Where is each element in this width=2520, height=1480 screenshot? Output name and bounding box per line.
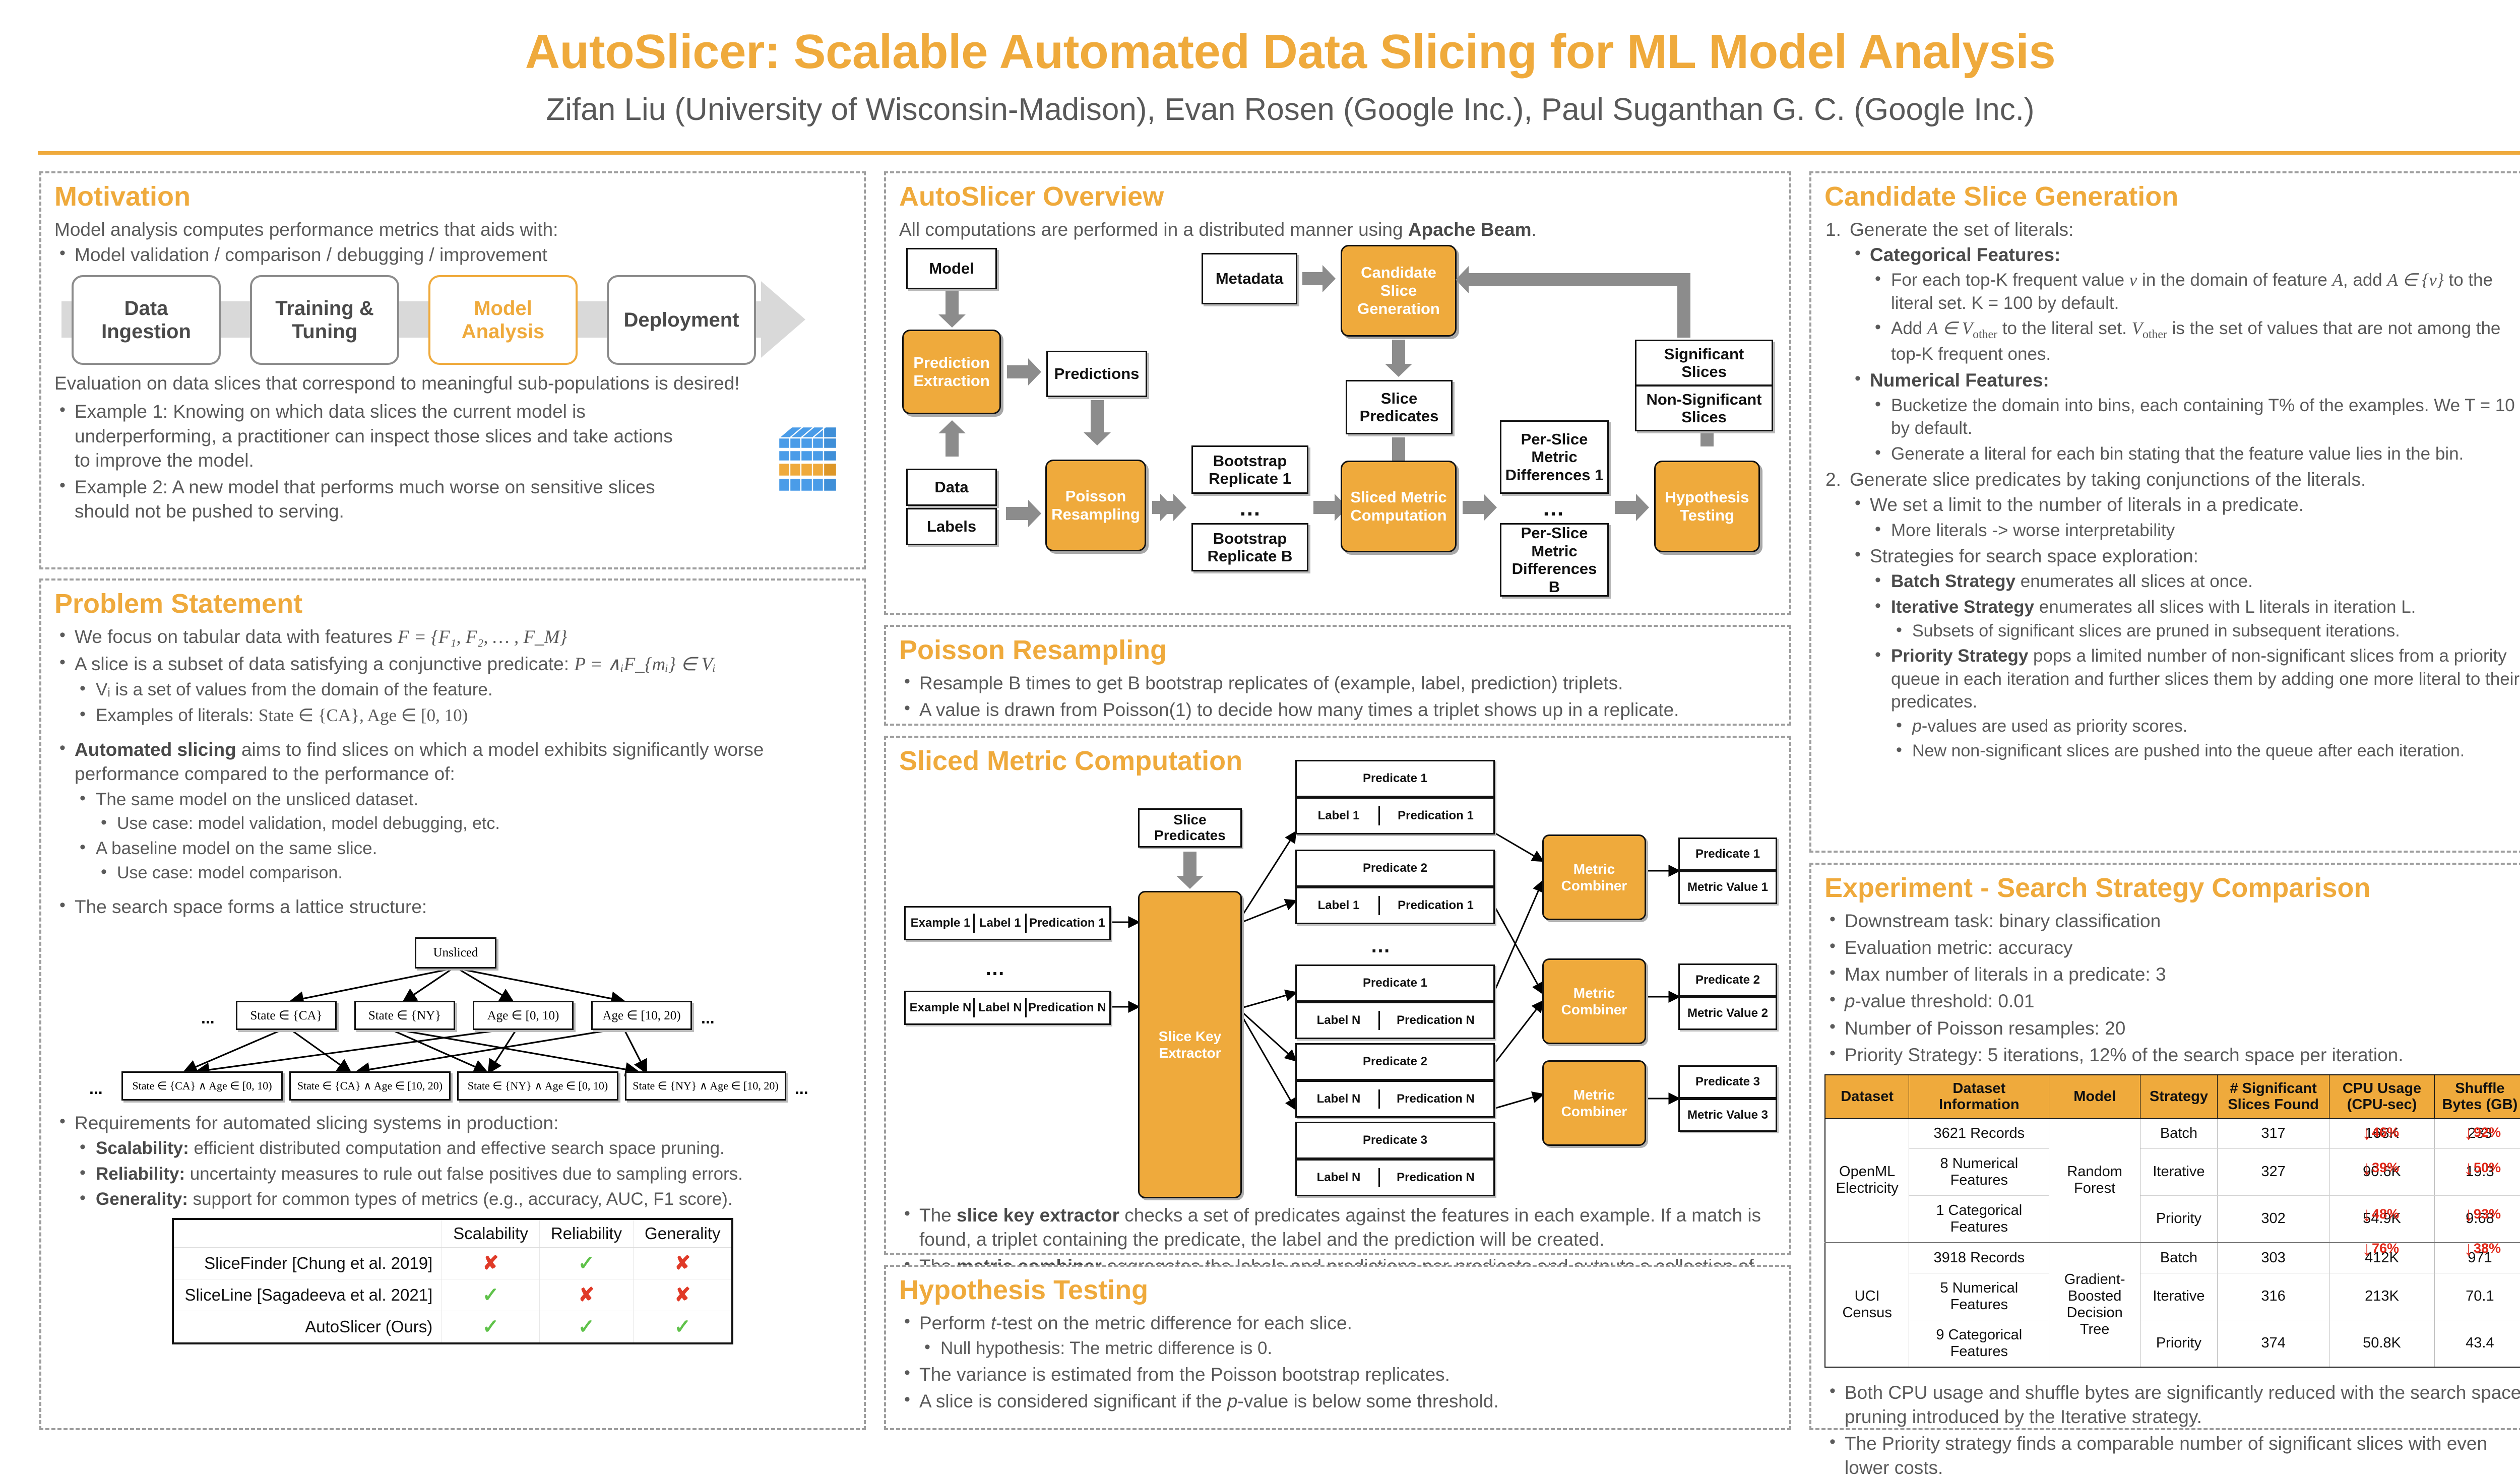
smc-output-predicate-1: Predicate 1: [1678, 838, 1777, 871]
list-item: Iterative Strategy enumerates all slices…: [1870, 596, 2520, 642]
row-label-slicefinder: SliceFinder [Chung et al. 2019]: [173, 1247, 442, 1279]
flow-node-prediction-extraction: Prediction Extraction: [902, 330, 1001, 414]
text-fragment: efficient distributed computation and ef…: [189, 1138, 725, 1158]
flow-node-sliced-metric-computation: Sliced Metric Computation: [1341, 461, 1457, 552]
list-item: A value is drawn from Poisson(1) to deci…: [899, 698, 1776, 722]
list-item: p-value threshold: 0.01: [1824, 989, 2520, 1013]
smc-predicate-header-1b: Predicate 1: [1295, 964, 1495, 1002]
arrow-metadata-to-candidate: [1302, 272, 1324, 285]
smc-cell-predication: Predication N: [1380, 1011, 1491, 1030]
smc-cell-label: Label 1: [1299, 896, 1380, 915]
requirement-list: Scalability: efficient distributed compu…: [75, 1137, 851, 1211]
check-icon: ✓: [578, 1252, 595, 1274]
cell-info-numerical-2: 5 Numerical Features: [1909, 1273, 2049, 1320]
cell-slices-iterative-2: 316: [2217, 1273, 2329, 1320]
symbol-t: t: [991, 1313, 996, 1333]
pipeline-arrowhead-icon: [761, 281, 805, 358]
down-arrow-icon: ↓: [2464, 1238, 2474, 1260]
annotation-value: 48%: [2372, 1206, 2399, 1221]
feedback-loop-horizontal: [1468, 273, 1690, 286]
list-item: A baseline model on the same slice. Use …: [75, 837, 851, 884]
flow-node-non-significant-slices: Non-Significant Slices: [1635, 385, 1773, 431]
text-fragment: -value threshold: 0.01: [1855, 991, 2035, 1011]
list-item: Generate slice predicates by taking conj…: [1824, 468, 2520, 762]
strategy-iterative-label: Iterative Strategy: [1891, 597, 2034, 617]
motivation-bullets-top: Model validation / comparison / debuggin…: [54, 243, 851, 267]
problem-requirements: Requirements for automated slicing syste…: [54, 1111, 851, 1211]
cross-icon: ✘: [483, 1253, 499, 1274]
cross-icon: ✘: [674, 1284, 690, 1306]
text-fragment: Requirements for automated slicing syste…: [75, 1113, 558, 1133]
motivation-statement: Evaluation on data slices that correspon…: [54, 371, 851, 396]
column-header-scalability: Scalability: [442, 1219, 540, 1248]
list-item: Null hypothesis: The metric difference i…: [919, 1337, 1776, 1360]
cell-slices-batch-2: 303: [2217, 1243, 2329, 1273]
cell-strategy-iterative-2: Iterative: [2140, 1273, 2217, 1320]
cross-icon: ✘: [674, 1253, 690, 1274]
list-item: Requirements for automated slicing syste…: [54, 1111, 851, 1211]
list-item: Both CPU usage and shuffle bytes are sig…: [1824, 1381, 2520, 1429]
text-fragment: The same model on the unsliced dataset.: [96, 790, 418, 809]
table-row: 5 Numerical Features Iterative 316 213K …: [1825, 1273, 2520, 1320]
list-item: Numerical Features: Bucketize the domain…: [1850, 368, 2520, 466]
math-a-in-v: A ∈ {v}: [2387, 270, 2443, 290]
smc-cell-predication: Predication 1: [1380, 806, 1491, 825]
flow-node-candidate-slice-generation: Candidate Slice Generation: [1341, 245, 1457, 337]
annotation-cpu-batch-to-iterative-g1: ↓46%: [2362, 1123, 2399, 1143]
smc-cell-example-n: Example N: [908, 998, 975, 1017]
flow-node-bootstrap-replicate-1: Bootstrap Replicate 1: [1191, 445, 1308, 494]
flow-node-significant-slices: Significant Slices: [1635, 340, 1773, 386]
arrow-predictions-to-poisson: [1091, 400, 1104, 433]
list-item: Example 1: Knowing on which data slices …: [54, 400, 679, 472]
text-fragment: -value is below some threshold.: [1237, 1391, 1498, 1411]
experiment-bullets: Downstream task: binary classification E…: [1824, 909, 2520, 1067]
arrow-model-to-prediction-extraction: [946, 291, 959, 315]
list-item: Example 2: A new model that performs muc…: [54, 475, 679, 524]
annotation-value: 38%: [2474, 1241, 2501, 1256]
cell-cpu-iterative-2: 213K: [2329, 1273, 2435, 1320]
smc-node-metric-combiner-1: Metric Combiner: [1542, 834, 1646, 920]
column-header-shuffle-bytes: Shuffle Bytes (GB): [2434, 1075, 2520, 1118]
panel-hypothesis-testing: Hypothesis Testing Perform t-test on the…: [884, 1265, 1791, 1430]
text-fragment: A baseline model on the same slice.: [96, 839, 377, 858]
requirement-reliability-label: Reliability:: [96, 1164, 185, 1184]
cell-slices-iterative-1: 327: [2217, 1148, 2329, 1195]
arrow-sliced-metric-to-diffs: [1463, 501, 1485, 514]
section-title-candidate: Candidate Slice Generation: [1824, 182, 2520, 211]
cell-autoslicer-generality: ✓: [634, 1311, 733, 1343]
annotation-shuffle-batch-to-iterative-g1: ↓92%: [2464, 1123, 2501, 1143]
smc-cell-predication: Predication N: [1380, 1168, 1491, 1187]
list-item: Generate a literal for each bin stating …: [1870, 442, 2520, 466]
panel-sliced-metric-computation: Sliced Metric Computation: [884, 736, 1791, 1255]
lattice-node-ny-age-10-20: State ∈ {NY} ∧ Age ∈ [10, 20): [625, 1071, 786, 1101]
cross-icon: ✘: [579, 1284, 595, 1306]
smc-predicate-pair-2b: Label N Predication N: [1295, 1080, 1495, 1118]
annotation-value: 76%: [2372, 1241, 2399, 1256]
pipeline-stage-model-analysis: Model Analysis: [428, 275, 578, 365]
list-item: Model validation / comparison / debuggin…: [54, 243, 851, 267]
section-title-overview: AutoSlicer Overview: [899, 182, 1776, 211]
column-header-strategy: Strategy: [2140, 1075, 2217, 1118]
annotation-value: 93%: [2474, 1206, 2501, 1221]
smc-cell-label: Label N: [1299, 1168, 1380, 1187]
cell-sliceline-scalability: ✓: [442, 1279, 540, 1311]
text-fragment: -test on the metric difference for each …: [996, 1313, 1352, 1333]
list-item: Perform t-test on the metric difference …: [899, 1311, 1776, 1360]
list-item: The Priority strategy finds a comparable…: [1824, 1432, 2520, 1480]
flow-node-labels: Labels: [906, 508, 997, 545]
text-fragment: Examples of literals:: [96, 705, 259, 725]
list-item: Reliability: uncertainty measures to rul…: [75, 1163, 851, 1186]
cell-info-categorical-1: 1 Categorical Features: [1909, 1195, 2049, 1243]
text-fragment: Generate the set of literals:: [1850, 219, 2073, 240]
overview-flow-diagram: Model Prediction Extraction Data Labels …: [899, 245, 1779, 593]
cell-slices-priority-1: 302: [2217, 1195, 2329, 1243]
heading-numerical-features: Numerical Features:: [1870, 370, 2049, 391]
cell-strategy-priority-2: Priority: [2140, 1320, 2217, 1367]
column-header-cpu-usage: CPU Usage (CPU-sec): [2329, 1075, 2435, 1118]
down-arrow-icon: ↓: [2362, 1157, 2372, 1179]
down-arrow-icon: ↓: [2362, 1122, 2372, 1144]
section-title-motivation: Motivation: [54, 182, 851, 211]
feedback-loop-vertical: [1677, 273, 1690, 338]
candidate-predicate-rules: We set a limit to the number of literals…: [1850, 493, 2520, 762]
column-header-blank: [173, 1219, 442, 1248]
math-features-set: F = {F₁, F₂, … , F_M}: [398, 627, 567, 648]
annotation-shuffle-iterative-to-priority-g2: ↓38%: [2464, 1239, 2501, 1259]
problem-perf-bullets: The same model on the unsliced dataset. …: [75, 788, 851, 884]
list-item: Examples of literals: State ∈ {CA}, Age …: [75, 704, 851, 727]
symbol-v: v: [2129, 270, 2137, 290]
iterative-notes: Subsets of significant slices are pruned…: [1891, 620, 2520, 642]
symbol-p: p: [1845, 991, 1855, 1011]
annotation-cpu-iterative-to-priority-g2: ↓76%: [2362, 1239, 2399, 1259]
arrow-candidate-to-slice-predicates: [1392, 340, 1405, 365]
flow-node-data: Data: [906, 469, 997, 506]
cell-slices-priority-2: 374: [2217, 1320, 2329, 1367]
numerical-rules: Bucketize the domain into bins, each con…: [1870, 394, 2520, 466]
text-fragment: , add: [2343, 270, 2387, 290]
lattice-ellipsis-bottom-right: ...: [795, 1079, 808, 1098]
arrow-prediction-extraction-to-predictions: [1007, 365, 1029, 378]
table-row: OpenML Electricity 3621 Records Random F…: [1825, 1118, 2520, 1148]
lattice-ellipsis-left: ...: [201, 1009, 215, 1027]
subscript-other: other: [1973, 328, 1997, 341]
text-fragment: Generate slice predicates by taking conj…: [1850, 469, 2366, 490]
list-item: Automated slicing aims to find slices on…: [54, 738, 851, 884]
experiment-results-table-wrapper: Dataset Dataset Information Model Strate…: [1824, 1074, 2520, 1368]
smc-node-metric-combiner-2: Metric Combiner: [1542, 958, 1646, 1044]
smc-cell-predication-n: Predication N: [1027, 998, 1107, 1017]
column-header-generality: Generality: [634, 1219, 733, 1248]
term-slice-key-extractor: slice key extractor: [957, 1205, 1119, 1226]
cell-strategy-priority-1: Priority: [2140, 1195, 2217, 1243]
smc-predicate-header-2a: Predicate 2: [1295, 850, 1495, 887]
smc-cell-label: Label N: [1299, 1089, 1380, 1109]
cell-model-random-forest: Random Forest: [2049, 1118, 2140, 1243]
header-divider: [38, 151, 2520, 155]
column-header-significant-slices: # Significant Slices Found: [2217, 1075, 2329, 1118]
cell-info-records-1: 3621 Records: [1909, 1118, 2049, 1148]
table-row: 1 Categorical Features Priority 302 54.9…: [1825, 1195, 2520, 1243]
list-item: A slice is considered significant if the…: [899, 1389, 1776, 1413]
cell-dataset-uci: UCI Census: [1825, 1243, 1909, 1367]
text-fragment: -values are used as priority scores.: [1922, 717, 2187, 736]
arrow-data-labels-to-poisson: [1006, 507, 1029, 520]
cell-model-gbdt: Gradient-Boosted Decision Tree: [2049, 1243, 2140, 1367]
lattice-node-age-10-20: Age ∈ [10, 20): [591, 1001, 692, 1030]
poisson-bullets: Resample B times to get B bootstrap repl…: [899, 671, 1776, 722]
section-title-experiment: Experiment - Search Strategy Comparison: [1824, 874, 2520, 902]
list-item: New non-significant slices are pushed in…: [1891, 740, 2520, 762]
smc-cell-label: Label 1: [1299, 806, 1380, 825]
feedback-loop-arrowhead-icon: [1456, 266, 1469, 293]
list-item: Evaluation metric: accuracy: [1824, 936, 2520, 960]
section-title-hypothesis: Hypothesis Testing: [899, 1276, 1776, 1304]
experiment-results-table: Dataset Dataset Information Model Strate…: [1824, 1074, 2520, 1368]
list-item: Resample B times to get B bootstrap repl…: [899, 671, 1776, 695]
math-a-in-vother: A ∈ V: [1927, 318, 1973, 338]
annotation-cpu-iterative-to-priority-g1: ↓39%: [2362, 1158, 2399, 1178]
list-item: More literals -> worse interpretability: [1870, 519, 2520, 542]
text-fragment: We focus on tabular data with features: [75, 626, 398, 647]
table-row: 8 Numerical Features Iterative 327 90.6K…: [1825, 1148, 2520, 1195]
row-label-autoslicer: AutoSlicer (Ours): [173, 1311, 442, 1343]
text-fragment: The: [919, 1205, 957, 1226]
author-list: Zifan Liu (University of Wisconsin-Madis…: [0, 92, 2520, 127]
table-row: SliceLine [Sagadeeva et al. 2021] ✓ ✘ ✘: [173, 1279, 733, 1311]
cell-info-numerical-1: 8 Numerical Features: [1909, 1148, 2049, 1195]
symbol-p: p: [1912, 717, 1922, 736]
annotation-value: 46%: [2372, 1125, 2399, 1140]
problem-bullets: We focus on tabular data with features F…: [54, 625, 851, 919]
bootstrap-ellipsis: …: [1239, 496, 1263, 521]
list-item: Number of Poisson resamples: 20: [1824, 1016, 2520, 1041]
column-header-dataset: Dataset: [1825, 1075, 1909, 1118]
cell-strategy-batch-1: Batch: [2140, 1118, 2217, 1148]
text-fragment: in the domain of feature: [2137, 270, 2332, 290]
list-item: The variance is estimated from the Poiss…: [899, 1363, 1776, 1387]
list-item: Categorical Features: For each top-K fre…: [1850, 243, 2520, 366]
annotation-value: 39%: [2372, 1160, 2399, 1175]
panel-candidate-slice-generation: Candidate Slice Generation Generate the …: [1809, 171, 2520, 853]
table-row: 9 Categorical Features Priority 374 50.8…: [1825, 1320, 2520, 1367]
smc-predicate-header-2b: Predicate 2: [1295, 1043, 1495, 1080]
smc-node-metric-combiner-3: Metric Combiner: [1542, 1060, 1646, 1146]
text-fragment: Add: [1891, 318, 1927, 338]
section-title-poisson: Poisson Resampling: [899, 636, 1776, 664]
text-fragment: Strategies for search space exploration:: [1870, 546, 2198, 566]
down-arrow-icon: ↓: [2362, 1238, 2372, 1260]
cell-slicefinder-reliability: ✓: [539, 1247, 633, 1279]
column-header-reliability: Reliability: [539, 1219, 633, 1248]
poster-root: AutoSlicer: Scalable Automated Data Slic…: [0, 0, 2520, 1451]
check-icon: ✓: [482, 1284, 499, 1306]
list-item: Use case: model validation, model debugg…: [96, 812, 851, 834]
pipeline-stage-training-tuning: Training & Tuning: [250, 275, 399, 365]
flow-node-slice-predicates: Slice Predicates: [1346, 380, 1453, 434]
smc-cell-label-n: Label N: [975, 998, 1027, 1017]
down-arrow-icon: ↓: [2464, 1157, 2474, 1179]
ml-pipeline-diagram: Data Ingestion Training & Tuning Model A…: [57, 272, 808, 365]
smc-predicate-pair-2a: Label 1 Predication 1: [1295, 887, 1495, 924]
smc-cell-example-1: Example 1: [908, 914, 975, 933]
smc-example-row-n: Example N Label N Predication N: [904, 991, 1111, 1025]
column-header-model: Model: [2049, 1075, 2140, 1118]
term-automated-slicing: Automated slicing: [75, 739, 236, 760]
systems-comparison-table: Scalability Reliability Generality Slice…: [172, 1218, 734, 1344]
strategy-list: Batch Strategy enumerates all slices at …: [1870, 570, 2520, 762]
cell-autoslicer-reliability: ✓: [539, 1311, 633, 1343]
text-fragment: enumerates all slices at once.: [2015, 571, 2253, 591]
cell-slicefinder-generality: ✘: [634, 1247, 733, 1279]
smc-output-metric-value-2: Metric Value 2: [1678, 997, 1777, 1030]
smc-output-predicate-2: Predicate 2: [1678, 963, 1777, 997]
smc-cell-label: Label N: [1299, 1011, 1380, 1030]
smc-output-predicate-3: Predicate 3: [1678, 1065, 1777, 1099]
lattice-node-root: Unsliced: [415, 937, 496, 969]
math-vother: V: [2132, 318, 2143, 338]
table-header-row: Scalability Reliability Generality: [173, 1219, 733, 1248]
text-fragment: Perform: [919, 1313, 991, 1333]
smc-example-row-1: Example 1 Label 1 Predication 1: [904, 906, 1111, 940]
panel-experiment: Experiment - Search Strategy Comparison …: [1809, 863, 2520, 1430]
list-item: Generate the set of literals: Categorica…: [1824, 218, 2520, 465]
arrow-slice-predicates-to-sliced-metric: [1392, 437, 1405, 463]
annotation-shuffle-iterative-to-priority-g1: ↓50%: [2464, 1158, 2501, 1178]
list-item: We set a limit to the number of literals…: [1850, 493, 2520, 542]
smc-cell-predication-1: Predication 1: [1027, 914, 1107, 933]
list-item: Use case: model comparison.: [96, 862, 851, 884]
list-item: The search space forms a lattice structu…: [54, 895, 851, 919]
flow-node-predictions: Predictions: [1046, 351, 1147, 397]
cell-shuffle-iterative-2: 70.1: [2434, 1273, 2520, 1320]
term-apache-beam: Apache Beam: [1408, 219, 1532, 240]
cell-strategy-batch-2: Batch: [2140, 1243, 2217, 1273]
lattice-node-age-0-10: Age ∈ [0, 10): [473, 1001, 574, 1030]
lattice-node-state-ny: State ∈ {NY}: [354, 1001, 455, 1030]
pipeline-stage-data-ingestion: Data Ingestion: [72, 275, 221, 365]
text-fragment: to the literal set.: [1997, 318, 2132, 338]
data-cube-icon: [767, 410, 855, 511]
annotation-value: 92%: [2474, 1125, 2501, 1140]
check-icon: ✓: [482, 1316, 499, 1338]
smc-cell-predication: Predication N: [1380, 1089, 1491, 1109]
smc-node-slice-predicates: Slice Predicates: [1138, 808, 1242, 848]
requirement-scalability-label: Scalability:: [96, 1138, 189, 1158]
subscript-other-2: other: [2143, 328, 2167, 341]
flow-node-hypothesis-testing: Hypothesis Testing: [1654, 461, 1760, 552]
list-item: Scalability: efficient distributed compu…: [75, 1137, 851, 1160]
text-fragment: A slice is considered significant if the: [919, 1391, 1227, 1411]
annotation-shuffle-batch-to-iterative-g2: ↓93%: [2464, 1204, 2501, 1225]
hypothesis-bullets: Perform t-test on the metric difference …: [899, 1311, 1776, 1413]
table-row: SliceFinder [Chung et al. 2019] ✘ ✓ ✘: [173, 1247, 733, 1279]
panel-motivation: Motivation Model analysis computes perfo…: [39, 171, 866, 569]
list-item: p-values are used as priority scores.: [1891, 715, 2520, 737]
text-fragment: .: [1532, 219, 1537, 240]
list-item: Priority Strategy: 5 iterations, 12% of …: [1824, 1043, 2520, 1067]
cell-dataset-openml: OpenML Electricity: [1825, 1118, 1909, 1243]
math-literal-examples: State ∈ {CA}, Age ∈ [0, 10): [259, 705, 468, 725]
list-item: Vᵢ is a set of values from the domain of…: [75, 678, 851, 701]
lattice-diagram: Unsliced ... State ∈ {CA} State ∈ {NY} A…: [82, 922, 823, 1106]
smc-predicates-ellipsis: …: [1370, 935, 1392, 957]
list-item: We focus on tabular data with features F…: [54, 625, 851, 650]
lattice-node-ca-age-10-20: State ∈ {CA} ∧ Age ∈ [10, 20): [289, 1071, 451, 1101]
per-slice-diff-ellipsis: …: [1542, 496, 1566, 521]
list-item: Add A ∈ Vother to the literal set. Vothe…: [1870, 317, 2520, 365]
literal-limit-note: More literals -> worse interpretability: [1870, 519, 2520, 542]
pipeline-stage-deployment: Deployment: [607, 275, 756, 365]
motivation-examples: Example 1: Knowing on which data slices …: [54, 400, 679, 523]
down-arrow-icon: ↓: [2362, 1203, 2372, 1226]
hypothesis-sub-bullets: Null hypothesis: The metric difference i…: [919, 1337, 1776, 1360]
motivation-intro: Model analysis computes performance metr…: [54, 218, 851, 242]
smc-cell-label-1: Label 1: [975, 914, 1027, 933]
smc-predicate-pair-1b: Label N Predication N: [1295, 1002, 1495, 1039]
section-title-problem-statement: Problem Statement: [54, 590, 851, 618]
flow-node-bootstrap-replicate-b: Bootstrap Replicate B: [1191, 523, 1308, 571]
panel-autoslicer-overview: AutoSlicer Overview All computations are…: [884, 171, 1791, 615]
down-arrow-icon: ↓: [2464, 1203, 2474, 1226]
flow-node-model: Model: [906, 248, 997, 289]
cell-autoslicer-scalability: ✓: [442, 1311, 540, 1343]
sliced-metric-diagram: Slice Predicates Slice Key Extractor Exa…: [899, 756, 1786, 1119]
smc-cell-predication: Predication 1: [1380, 896, 1491, 915]
text-fragment: We set a limit to the number of literals…: [1870, 494, 2304, 515]
column-header-dataset-information: Dataset Information: [1909, 1075, 2049, 1118]
panel-problem-statement: Problem Statement We focus on tabular da…: [39, 578, 866, 1430]
text-fragment: support for common types of metrics (e.g…: [188, 1189, 733, 1209]
smc-predicate-header-3: Predicate 3: [1295, 1122, 1495, 1159]
text-fragment: For each top-K frequent value: [1891, 270, 2129, 290]
text-fragment: enumerates all slices with L literals in…: [2034, 597, 2416, 617]
list-item: Batch Strategy enumerates all slices at …: [1870, 570, 2520, 593]
page-title: AutoSlicer: Scalable Automated Data Slic…: [0, 24, 2520, 80]
math-predicate: P = ∧ᵢF_{mᵢ} ∈ Vᵢ: [574, 654, 716, 675]
categorical-rules: For each top-K frequent value v in the d…: [1870, 269, 2520, 365]
candidate-feature-types: Categorical Features: For each top-K fre…: [1850, 243, 2520, 465]
priority-notes: p-values are used as priority scores. Ne…: [1891, 715, 2520, 762]
cell-shuffle-priority-2: 43.4: [2434, 1320, 2520, 1367]
table-row: AutoSlicer (Ours) ✓ ✓ ✓: [173, 1311, 733, 1343]
annotation-value: 50%: [2474, 1160, 2501, 1175]
poster-header: AutoSlicer: Scalable Automated Data Slic…: [0, 0, 2520, 154]
list-item: Generality: support for common types of …: [75, 1188, 851, 1211]
list-item: Downstream task: binary classification: [1824, 909, 2520, 933]
list-item: The same model on the unsliced dataset. …: [75, 788, 851, 835]
text-fragment: uncertainty measures to rule out false p…: [185, 1164, 743, 1184]
overview-subtitle: All computations are performed in a dist…: [899, 218, 1776, 242]
smc-output-metric-value-3: Metric Value 3: [1678, 1099, 1777, 1132]
list-item: Subsets of significant slices are pruned…: [1891, 620, 2520, 642]
list-item: Strategies for search space exploration:…: [1850, 544, 2520, 762]
list-item: Priority Strategy pops a limited number …: [1870, 645, 2520, 762]
requirement-generality-label: Generality:: [96, 1189, 188, 1209]
lattice-ellipsis-bottom-left: ...: [89, 1079, 103, 1098]
cell-slicefinder-scalability: ✘: [442, 1247, 540, 1279]
lattice-node-state-ca: State ∈ {CA}: [236, 1001, 337, 1030]
list-item: Bucketize the domain into bins, each con…: [1870, 394, 2520, 440]
table-header-row: Dataset Dataset Information Model Strate…: [1825, 1075, 2520, 1118]
problem-usecase-2: Use case: model comparison.: [96, 862, 851, 884]
check-icon: ✓: [674, 1316, 691, 1338]
text-fragment: All computations are performed in a dist…: [899, 219, 1408, 240]
cell-info-records-2: 3918 Records: [1909, 1243, 2049, 1273]
